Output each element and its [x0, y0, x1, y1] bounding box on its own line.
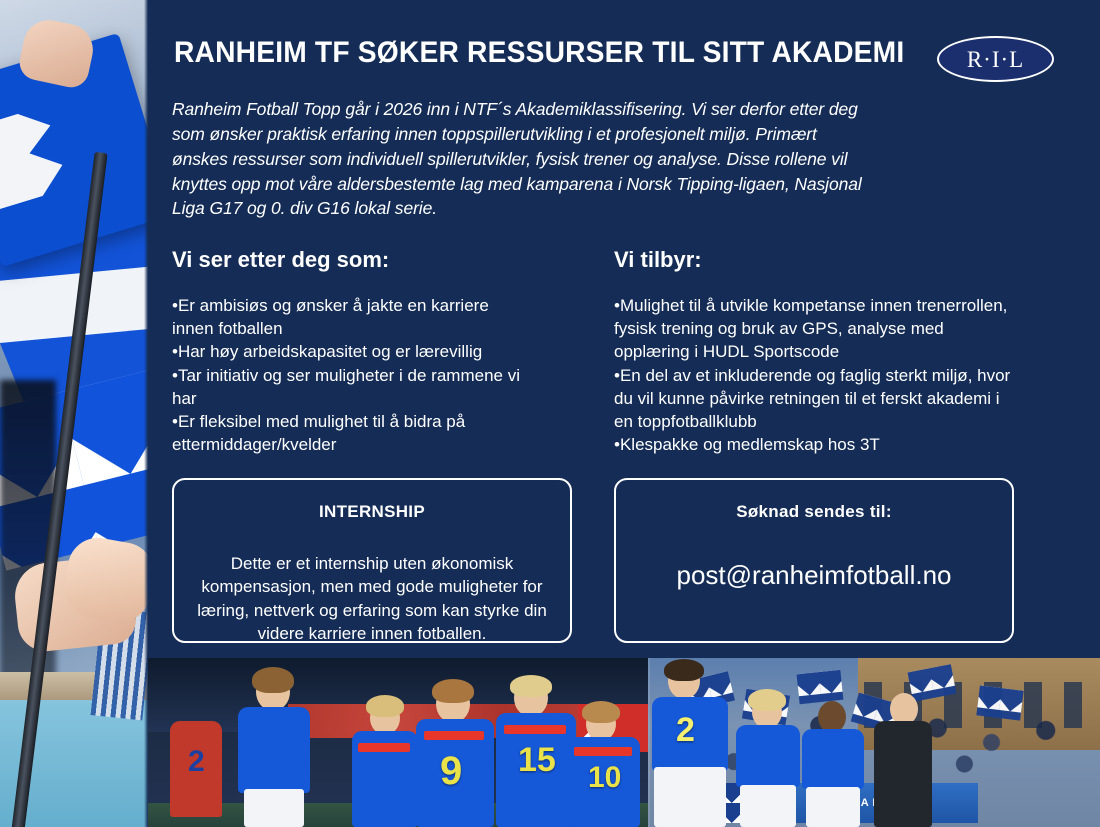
- column-offers-heading: Vi tilbyr:: [614, 248, 1014, 272]
- photo-player-standing-a: [732, 677, 806, 827]
- photo-sponsor-band: [574, 747, 632, 756]
- internship-box-body: Dette er et internship uten økonomisk ko…: [194, 552, 550, 646]
- list-item: •Klespakke og medlemskap hos 3T: [614, 433, 1014, 456]
- ril-logo: R·I·L: [937, 36, 1054, 82]
- offers-list: •Mulighet til å utvikle kompetanse innen…: [614, 294, 1014, 456]
- application-box-title: Søknad sendes til:: [636, 502, 992, 522]
- application-email[interactable]: post@ranheimfotball.no: [636, 560, 992, 591]
- photo-sponsor-band: [358, 743, 410, 752]
- photo-jersey-number: 2: [676, 711, 695, 750]
- photo-player-jersey: [802, 729, 864, 789]
- photo-jersey-number: 15: [518, 741, 556, 780]
- photo-checkered-flag: [976, 685, 1023, 720]
- photo-opponent-player: [170, 721, 222, 817]
- bottom-photo-strip: 9 15 10: [148, 658, 1100, 827]
- photo-player-hair: [432, 679, 474, 703]
- content-area: RANHEIM TF SØKER RESSURSER TIL SITT AKAD…: [148, 0, 1100, 658]
- photo-player-jersey: [238, 707, 310, 793]
- photo-sponsor-band: [504, 725, 566, 734]
- list-item: •En del av et inkluderende og faglig ste…: [614, 364, 1014, 433]
- photo-player-shorts: [740, 785, 796, 827]
- left-photo-strip: [0, 0, 148, 827]
- list-item: •Er ambisiøs og ønsker å jakte en karrie…: [172, 294, 532, 340]
- internship-box-title: INTERNSHIP: [194, 502, 550, 522]
- photo-player-jumping: 2: [648, 659, 738, 827]
- list-item: •Tar initiativ og ser muligheter i de ra…: [172, 364, 532, 410]
- photo-supporters-celebration: R·I·L FORZA RANHEIM 2: [648, 658, 1100, 827]
- list-item: •Har høy arbeidskapasitet og er lærevill…: [172, 340, 532, 363]
- photo-player-shorts: [654, 767, 726, 827]
- internship-box: INTERNSHIP Dette er et internship uten ø…: [172, 478, 572, 643]
- photo-player-group-b: 9: [410, 677, 500, 827]
- column-requirements: Vi ser etter deg som: •Er ambisiøs og øn…: [172, 248, 532, 456]
- photo-sponsor-band: [424, 731, 484, 740]
- ril-logo-text: R·I·L: [967, 48, 1024, 71]
- photo-player-standing-b: [798, 681, 870, 827]
- list-item: •Er fleksibel med mulighet til å bidra p…: [172, 410, 532, 456]
- column-offers: Vi tilbyr: •Mulighet til å utvikle kompe…: [614, 248, 1014, 456]
- photo-coach: [872, 677, 934, 827]
- photo-jersey-number: 9: [440, 749, 462, 794]
- photo-player-hair: [664, 659, 704, 681]
- requirements-list: •Er ambisiøs og ønsker å jakte en karrie…: [172, 294, 532, 456]
- photo-player-hair: [252, 667, 294, 693]
- photo-seam-divider: [648, 658, 650, 827]
- photo-player-celebrating: [230, 667, 316, 827]
- photo-goal-celebration: 9 15 10: [148, 658, 648, 827]
- photo-player-hair: [366, 695, 404, 717]
- column-requirements-heading: Vi ser etter deg som:: [172, 248, 532, 272]
- page-title: RANHEIM TF SØKER RESSURSER TIL SITT AKAD…: [174, 36, 832, 70]
- photo-player-jersey: [736, 725, 800, 787]
- photo-player-hair: [510, 675, 552, 697]
- intro-paragraph: Ranheim Fotball Topp går i 2026 inn i NT…: [172, 97, 862, 221]
- photo-player-shorts: [244, 789, 304, 827]
- poster-root: RANHEIM TF SØKER RESSURSER TIL SITT AKAD…: [0, 0, 1100, 827]
- photo-player-group-d: 10: [566, 691, 644, 827]
- application-box: Søknad sendes til: post@ranheimfotball.n…: [614, 478, 1014, 643]
- photo-player-hair: [582, 701, 620, 723]
- photo-coach-jacket: [874, 721, 932, 827]
- photo-player-hair: [748, 689, 786, 711]
- list-item: •Mulighet til å utvikle kompetanse innen…: [614, 294, 1014, 363]
- photo-player-shorts: [806, 787, 860, 827]
- photo-jersey-number: 10: [588, 761, 621, 795]
